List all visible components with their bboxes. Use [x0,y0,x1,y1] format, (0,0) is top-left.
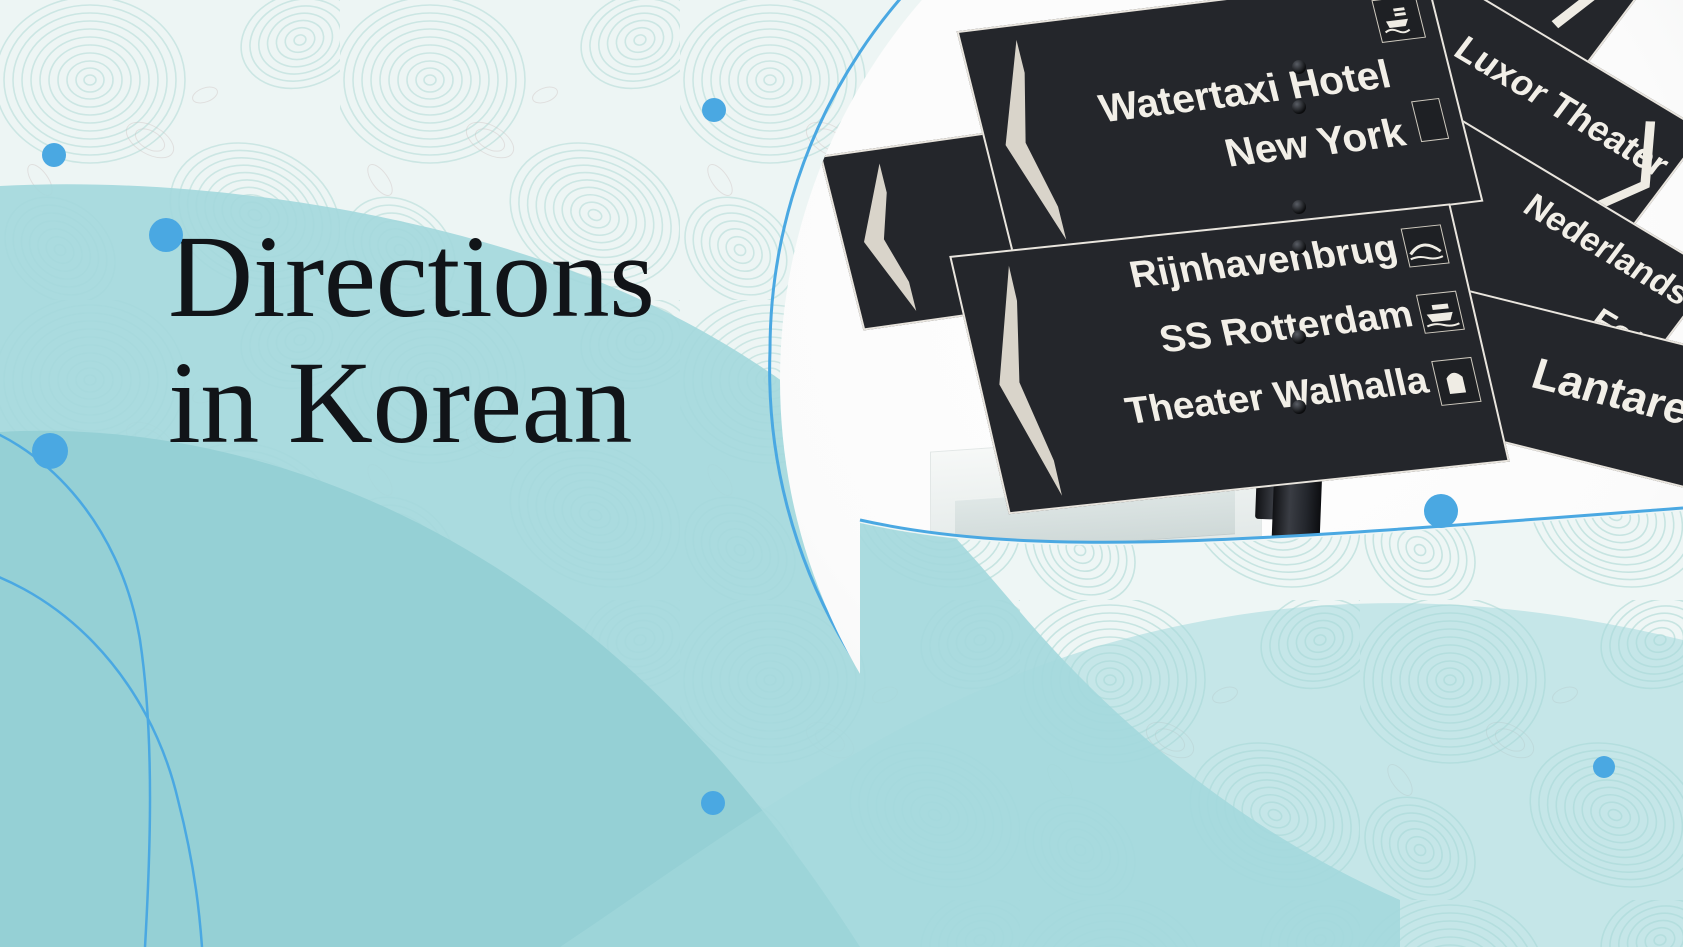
dot-bottom-center [701,791,725,815]
page-title: Directions in Korean [168,214,808,467]
dot-top-left [42,143,66,167]
dot-left-mid [32,433,68,469]
dot-bottom-right [1593,756,1615,778]
dot-curve-right [1424,494,1458,528]
decorative-arcs [0,0,1683,947]
slide-canvas: M wc Erasmusbrug Wilhelminaplein Metro W… [0,0,1683,947]
dot-title-left [149,218,183,252]
dot-mid-top [702,98,726,122]
